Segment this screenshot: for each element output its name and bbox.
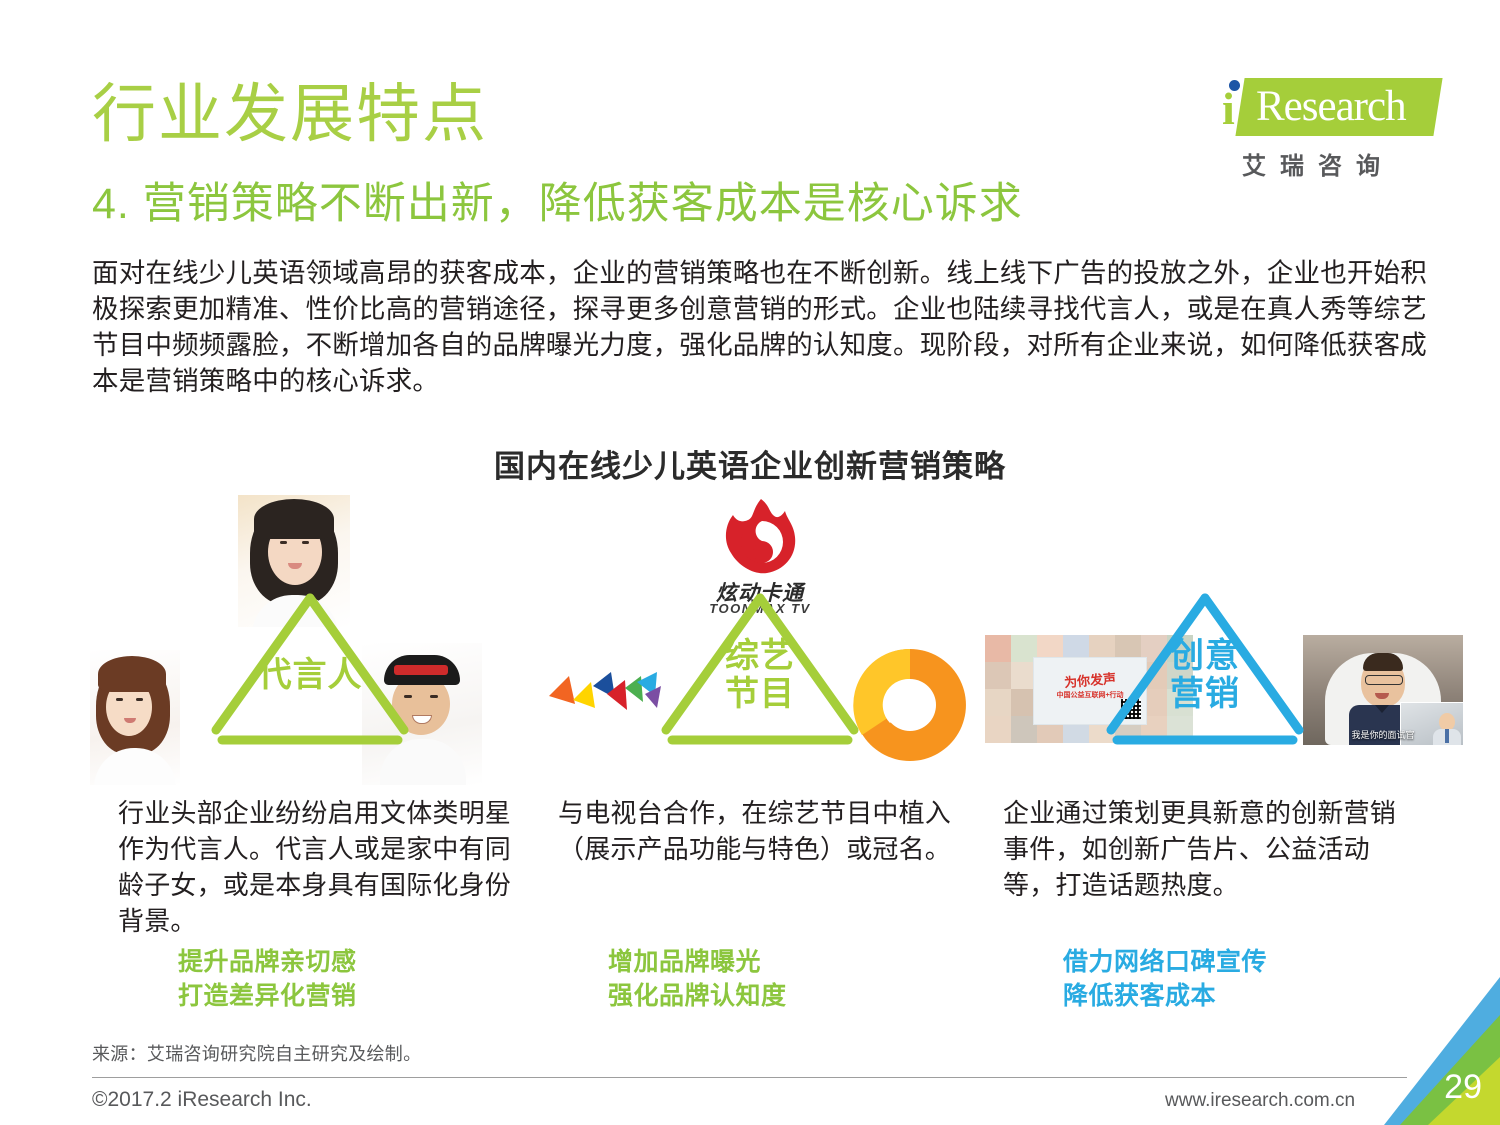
column-spokesperson: 代言人 行业头部企业纷纷启用文体类明星作为代言人。代言人或是家中有同龄子女，或是… <box>90 495 530 1025</box>
source-note: 来源：艾瑞咨询研究院自主研究及绘制。 <box>92 1040 421 1066</box>
page-subtitle: 4. 营销策略不断出新，降低获客成本是核心诉求 <box>92 178 1023 230</box>
strategy-columns: 代言人 行业头部企业纷纷启用文体类明星作为代言人。代言人或是家中有同龄子女，或是… <box>80 495 1430 1025</box>
column-1-highlight: 提升品牌亲切感 打造差异化营销 <box>178 945 578 1013</box>
column-2-highlight-line2: 强化品牌认知度 <box>608 979 1008 1013</box>
chart-title: 国内在线少儿英语企业创新营销策略 <box>0 447 1500 487</box>
video-caption: 我是你的面试官 <box>1303 728 1463 741</box>
flame-icon <box>715 497 807 577</box>
triangle-label-spokesperson: 代言人 <box>190 590 430 760</box>
column-1-visual: 代言人 <box>90 495 530 785</box>
corner-decoration: 29 <box>1380 975 1500 1125</box>
column-3-highlight-line1: 借力网络口碑宣传 <box>1063 945 1463 979</box>
iresearch-logo: i Research 艾瑞咨询 <box>1212 72 1462 182</box>
triangle-label-variety-line1: 综艺 <box>725 637 795 675</box>
footer-divider <box>92 1077 1407 1078</box>
column-3-description: 企业通过策划更具新意的创新营销事件，如创新广告片、公益活动等，打造话题热度。 <box>1003 795 1421 903</box>
celebrity-photo-left <box>90 650 180 785</box>
logo-chinese-name: 艾瑞咨询 <box>1242 146 1394 181</box>
column-2-description: 与电视台合作，在综艺节目中植入（展示产品功能与特色）或冠名。 <box>558 795 958 867</box>
copyright-text: ©2017.2 iResearch Inc. <box>92 1088 312 1112</box>
page-title: 行业发展特点 <box>92 78 488 150</box>
website-url: www.iresearch.com.cn <box>1165 1090 1355 1112</box>
triangle-label-variety: 综艺 节目 <box>640 590 880 760</box>
logo-letter-i: i <box>1222 86 1235 132</box>
column-1-highlight-line2: 打造差异化营销 <box>178 979 578 1013</box>
creative-ad-video-still: 我是你的面试官 <box>1303 635 1463 745</box>
column-creative-marketing: 为你发声 中国公益互联网+行动 <box>985 495 1425 1025</box>
logo-mark: i Research <box>1212 72 1452 140</box>
column-3-visual: 为你发声 中国公益互联网+行动 <box>985 495 1425 785</box>
triangle-label-creative-line1: 创意 <box>1170 637 1240 675</box>
logo-wordmark: Research <box>1256 84 1406 129</box>
triangle-frame-creative: 创意 营销 <box>1085 590 1325 760</box>
slide: i Research 艾瑞咨询 行业发展特点 4. 营销策略不断出新，降低获客成… <box>0 0 1500 1125</box>
body-paragraph: 面对在线少儿英语领域高昂的获客成本，企业的营销策略也在不断创新。线上线下广告的投… <box>92 255 1427 399</box>
triangle-label-creative: 创意 营销 <box>1085 590 1325 760</box>
column-2-visual: 炫动卡通 TOONMAX TV <box>540 495 980 785</box>
column-1-highlight-line1: 提升品牌亲切感 <box>178 945 578 979</box>
logo-blue-dot-icon <box>1229 80 1240 91</box>
column-2-highlight-line1: 增加品牌曝光 <box>608 945 1008 979</box>
triangle-label-creative-line2: 营销 <box>1170 675 1240 713</box>
column-variety-show: 炫动卡通 TOONMAX TV <box>540 495 980 1025</box>
triangle-frame-variety: 综艺 节目 <box>640 590 880 760</box>
triangle-frame-spokesperson: 代言人 <box>190 590 430 760</box>
triangle-label-variety-line2: 节目 <box>725 675 795 713</box>
column-2-highlight: 增加品牌曝光 强化品牌认知度 <box>608 945 1008 1013</box>
column-1-description: 行业头部企业纷纷启用文体类明星作为代言人。代言人或是家中有同龄子女，或是本身具有… <box>118 795 518 939</box>
page-number: 29 <box>1444 1068 1482 1107</box>
